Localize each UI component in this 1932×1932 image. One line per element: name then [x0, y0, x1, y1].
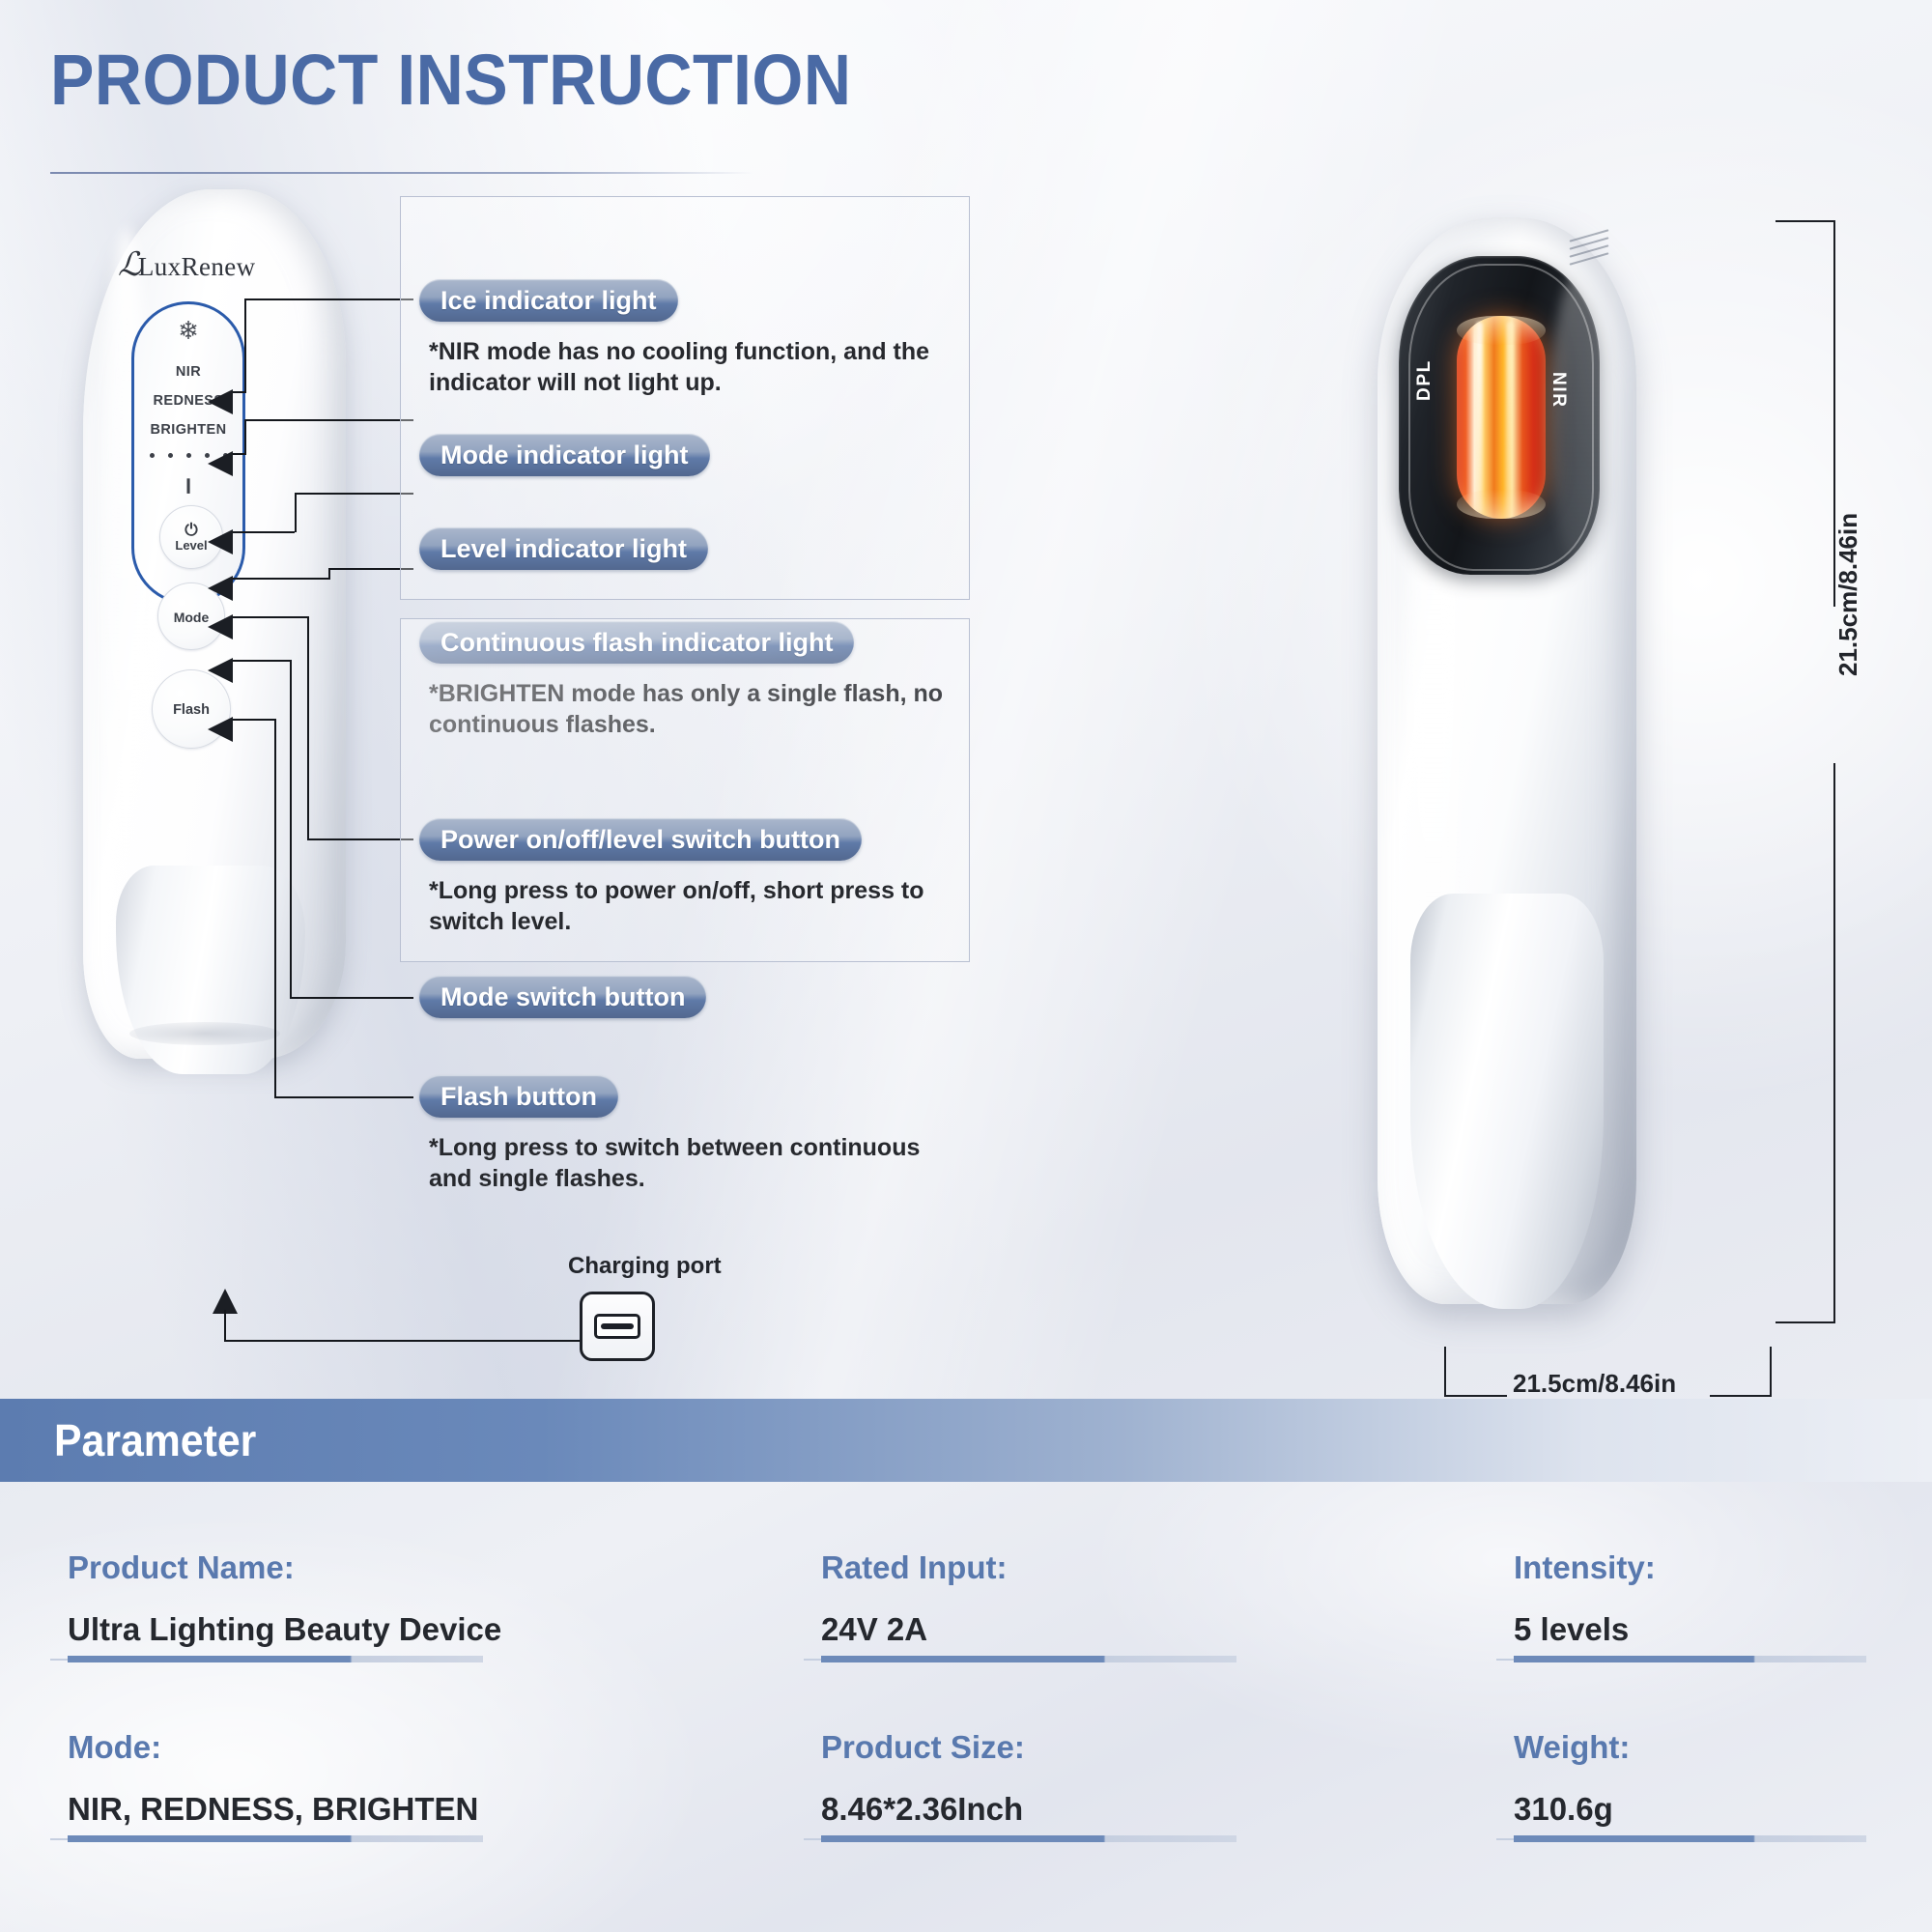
- param-divider: [821, 1656, 1236, 1662]
- leader-line-mode-button: [307, 997, 413, 999]
- callout-label-ice-indicator: Ice indicator light: [419, 279, 678, 322]
- parameter-header-bar: Parameter: [0, 1399, 1932, 1482]
- param-label: Product Size:: [821, 1729, 1025, 1766]
- param-divider: [1514, 1656, 1866, 1662]
- dim-vertical-label: 21.5cm/8.46in: [1833, 513, 1863, 676]
- level-dot: [150, 453, 155, 458]
- dim-vertical-line-bottom: [1833, 763, 1835, 1323]
- pointer-arrow-flash-button: [208, 717, 233, 742]
- leader-stub-level-ind: [233, 531, 295, 533]
- callout-label-power-button: Power on/off/level switch button: [419, 818, 862, 861]
- dim-horizontal-tick-left: [1444, 1347, 1446, 1397]
- leader-line-ice: [244, 298, 413, 300]
- param-value: Ultra Lighting Beauty Device: [68, 1611, 501, 1648]
- callout-label-level-indicator: Level indicator light: [419, 527, 708, 570]
- param-divider: [1514, 1835, 1866, 1842]
- param-divider: [821, 1835, 1236, 1842]
- callout-label-mode-indicator: Mode indicator light: [419, 434, 710, 476]
- leader-join-flash-button: [274, 1096, 311, 1098]
- leader-elbow-flash-button: [274, 719, 276, 1098]
- parameter-section-title: Parameter: [54, 1414, 256, 1466]
- flash-button-label: Flash: [173, 702, 210, 718]
- device-base-shadow: [129, 1022, 280, 1045]
- lamp-label-dpl: DPL: [1414, 359, 1435, 401]
- leader-stub-mode-button: [233, 660, 292, 662]
- dim-vertical-tick-bottom: [1776, 1321, 1835, 1323]
- param-label: Rated Input:: [821, 1549, 1007, 1586]
- callout-note-ice-indicator: *NIR mode has no cooling function, and t…: [429, 336, 962, 398]
- param-value: NIR, REDNESS, BRIGHTEN: [68, 1791, 478, 1828]
- leader-line-level-ind: [295, 493, 413, 495]
- param-value: 310.6g: [1514, 1791, 1630, 1828]
- lamp-label-nir: NIR: [1548, 372, 1569, 409]
- leader-elbow-ice: [244, 298, 246, 392]
- power-level-button-label: Level: [175, 538, 207, 553]
- continuous-flash-indicator: ❙: [134, 478, 242, 493]
- param-divider: [68, 1656, 483, 1662]
- charging-port-illustration: [580, 1292, 655, 1361]
- pointer-arrow-cont-flash: [208, 576, 233, 601]
- mode-indicator-brighten: BRIGHTEN: [134, 422, 242, 438]
- page-title: PRODUCT INSTRUCTION: [50, 39, 851, 121]
- brand-logo: ℒLuxRenew: [118, 245, 256, 284]
- leader-stub-flash-button: [233, 719, 276, 721]
- leader-stub-cont-flash: [233, 578, 328, 580]
- param-cell-mode: Mode: NIR, REDNESS, BRIGHTEN: [68, 1729, 478, 1828]
- param-label: Intensity:: [1514, 1549, 1656, 1586]
- dim-horizontal-line-left: [1444, 1395, 1507, 1397]
- parameter-section: Parameter Product Name: Ultra Lighting B…: [0, 1399, 1932, 1932]
- leader-elbow-level-ind: [295, 493, 297, 532]
- leader-stub-ice: [233, 391, 246, 393]
- snowflake-icon: ❄: [134, 318, 242, 343]
- callout-label-mode-switch: Mode switch button: [419, 976, 706, 1018]
- leader-line-power-button: [307, 838, 413, 840]
- dim-horizontal-tick-right: [1770, 1347, 1772, 1397]
- param-cell-product-size: Product Size: 8.46*2.36Inch: [821, 1729, 1025, 1828]
- param-divider: [68, 1835, 483, 1842]
- dim-horizontal-line-right: [1710, 1395, 1772, 1397]
- leader-line-charging-port: [224, 1340, 582, 1342]
- pointer-arrow-mode-button: [208, 658, 233, 683]
- leader-elbow-charging-port: [224, 1310, 226, 1342]
- param-cell-rated-input: Rated Input: 24V 2A: [821, 1549, 1007, 1648]
- param-value: 8.46*2.36Inch: [821, 1791, 1025, 1828]
- device-side-illustration: DPL NIR: [1352, 217, 1671, 1319]
- leader-join-mode-button: [290, 997, 311, 999]
- param-label: Product Name:: [68, 1549, 501, 1586]
- leader-line-flash-button: [307, 1096, 413, 1098]
- param-label: Weight:: [1514, 1729, 1630, 1766]
- mode-indicator-nir: NIR: [134, 364, 242, 380]
- param-label: Mode:: [68, 1729, 478, 1766]
- mode-button-label: Mode: [174, 610, 210, 625]
- param-cell-product-name: Product Name: Ultra Lighting Beauty Devi…: [68, 1549, 501, 1648]
- level-dot: [168, 453, 173, 458]
- pointer-arrow-ice: [208, 389, 233, 414]
- pointer-arrow-power-button: [208, 614, 233, 639]
- callout-note-flash-button: *Long press to switch between continuous…: [429, 1132, 946, 1194]
- brand-name: LuxRenew: [138, 252, 256, 281]
- device-right-handle: [1410, 894, 1604, 1309]
- level-dot: [186, 453, 191, 458]
- param-cell-intensity: Intensity: 5 levels: [1514, 1549, 1656, 1648]
- charging-port-label: Charging port: [568, 1253, 722, 1280]
- dim-horizontal-label: 21.5cm/8.46in: [1513, 1369, 1676, 1399]
- leader-elbow-mode-button: [290, 660, 292, 999]
- leader-elbow-mode-ind: [244, 419, 246, 454]
- title-divider: [50, 172, 753, 174]
- leader-stub-mode-ind: [233, 453, 246, 455]
- callout-note-power-button: *Long press to power on/off, short press…: [429, 875, 955, 937]
- pointer-arrow-mode-ind: [208, 451, 233, 476]
- lamp-window: [1457, 316, 1546, 519]
- leader-elbow-cont-flash: [328, 568, 330, 580]
- usb-c-slot-icon: [594, 1314, 640, 1339]
- lamp-head-module: DPL NIR: [1399, 256, 1600, 575]
- leader-elbow-power-button: [307, 616, 309, 840]
- param-value: 24V 2A: [821, 1611, 1007, 1648]
- pointer-arrow-level-ind: [208, 529, 233, 554]
- leader-stub-power-button: [233, 616, 309, 618]
- callout-label-flash-button: Flash button: [419, 1075, 618, 1118]
- param-cell-weight: Weight: 310.6g: [1514, 1729, 1630, 1828]
- param-value: 5 levels: [1514, 1611, 1656, 1648]
- dim-vertical-tick-top: [1776, 220, 1835, 222]
- leader-line-mode-ind: [244, 419, 413, 421]
